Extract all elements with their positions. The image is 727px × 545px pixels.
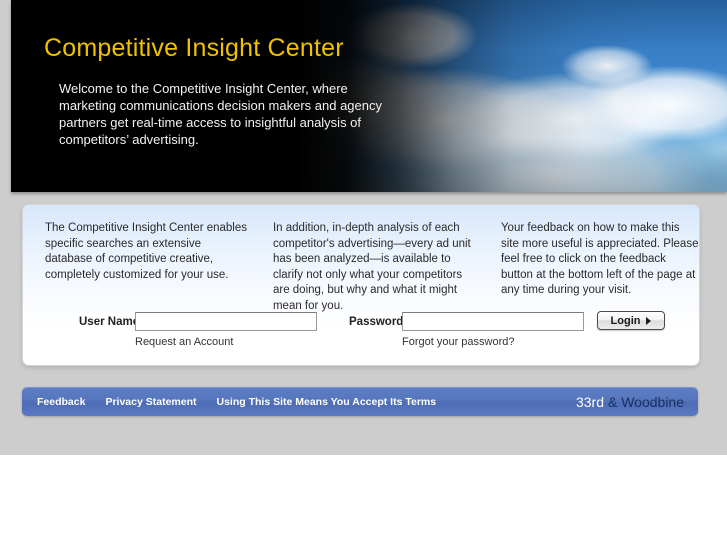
page-root: Competitive Insight Center Welcome to th… [0, 0, 727, 545]
username-label: User Name: [79, 316, 143, 328]
forgot-password-link[interactable]: Forgot your password? [402, 336, 515, 348]
arrow-right-icon [646, 317, 651, 325]
username-input[interactable] [135, 312, 317, 331]
brand-logo: 33rd & Woodbine [576, 387, 684, 416]
footer-link-terms[interactable]: Using This Site Means You Accept Its Ter… [217, 396, 437, 408]
footer-links: Feedback Privacy Statement Using This Si… [37, 387, 436, 416]
intro-column-1: The Competitive Insight Center enables s… [45, 221, 251, 314]
intro-columns: The Competitive Insight Center enables s… [23, 221, 699, 314]
footer-link-privacy-statement[interactable]: Privacy Statement [105, 396, 196, 408]
welcome-text: Welcome to the Competitive Insight Cente… [59, 80, 399, 148]
login-button[interactable]: Login [597, 311, 665, 330]
intro-column-3: Your feedback on how to make this site m… [501, 221, 699, 314]
footer-link-feedback[interactable]: Feedback [37, 396, 85, 408]
header-banner: Competitive Insight Center Welcome to th… [11, 0, 727, 192]
page-title: Competitive Insight Center [44, 34, 344, 63]
intro-column-2: In addition, in-depth analysis of each c… [273, 221, 479, 314]
login-form: User Name: Request an Account Password: … [23, 310, 699, 360]
login-button-label: Login [611, 315, 641, 327]
footer-bar: Feedback Privacy Statement Using This Si… [22, 387, 698, 416]
content-panel: The Competitive Insight Center enables s… [22, 204, 700, 366]
password-input[interactable] [402, 312, 584, 331]
brand-secondary-text: & Woodbine [608, 394, 684, 410]
request-account-link[interactable]: Request an Account [135, 336, 233, 348]
brand-primary-text: 33rd [576, 394, 604, 410]
password-label: Password: [349, 316, 407, 328]
